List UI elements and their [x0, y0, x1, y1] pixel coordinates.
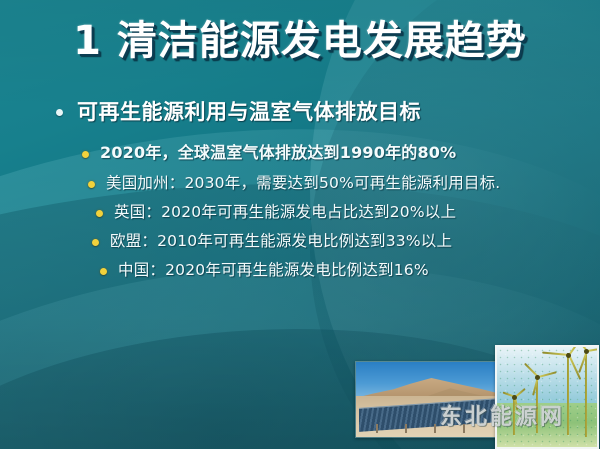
turbine-hub [584, 349, 589, 354]
level1-bullet-label: 可再生能源利用与温室气体排放目标 [77, 96, 421, 126]
level2-bullet-dot-icon [100, 268, 107, 275]
level2-bullet-item: 中国：2020年可再生能源发电比例达到16% [82, 259, 552, 281]
solar-photo-post [463, 424, 465, 432]
turbine-hub [535, 375, 540, 380]
presentation-slide: 1 清洁能源发电发展趋势 可再生能源利用与温室气体排放目标 2020年，全球温室… [0, 0, 600, 449]
turbine-mast [585, 349, 588, 437]
level2-bullet-label: 中国：2020年可再生能源发电比例达到16% [118, 259, 429, 281]
turbine-blade [568, 355, 581, 380]
solar-photo-post [434, 424, 436, 432]
solar-photo-post [405, 424, 407, 432]
level2-bullet-item: 2020年，全球温室气体排放达到1990年的80% [82, 142, 552, 165]
slide-body: 可再生能源利用与温室气体排放目标 2020年，全球温室气体排放达到1990年的8… [0, 96, 600, 288]
turbine-hub [512, 395, 517, 400]
level2-bullet-label: 英国：2020年可再生能源发电占比达到20%以上 [114, 201, 456, 223]
level2-bullet-dot-icon [82, 151, 89, 158]
level2-bullet-list: 2020年，全球温室气体排放达到1990年的80% 美国加州：2030年，需要达… [0, 142, 600, 281]
level2-bullet-dot-icon [88, 181, 95, 188]
level2-bullet-label: 美国加州：2030年，需要达到50%可再生能源利用目标. [106, 172, 500, 194]
level2-bullet-dot-icon [96, 210, 103, 217]
turbine-hub [566, 353, 571, 358]
wind-turbine-icon [507, 395, 521, 435]
level1-bullet-item: 可再生能源利用与温室气体排放目标 [0, 96, 600, 126]
wind-turbine-icon [555, 353, 581, 435]
level2-bullet-dot-icon [92, 239, 99, 246]
wind-turbine-photo [495, 345, 599, 449]
turbine-mast [567, 353, 570, 435]
wind-turbine-icon [527, 375, 547, 433]
level2-bullet-item: 欧盟：2010年可再生能源发电比例达到33%以上 [82, 230, 552, 252]
level2-bullet-item: 美国加州：2030年，需要达到50%可再生能源利用目标. [82, 172, 552, 194]
level2-bullet-label: 2020年，全球温室气体排放达到1990年的80% [100, 142, 456, 165]
solar-photo-post [376, 424, 378, 432]
solar-panel-farm-photo [355, 361, 502, 438]
level1-bullet-dot-icon [56, 109, 63, 116]
level2-bullet-item: 英国：2020年可再生能源发电占比达到20%以上 [82, 201, 552, 223]
slide-title: 1 清洁能源发电发展趋势 [0, 18, 600, 64]
level2-bullet-label: 欧盟：2010年可再生能源发电比例达到33%以上 [110, 230, 452, 252]
